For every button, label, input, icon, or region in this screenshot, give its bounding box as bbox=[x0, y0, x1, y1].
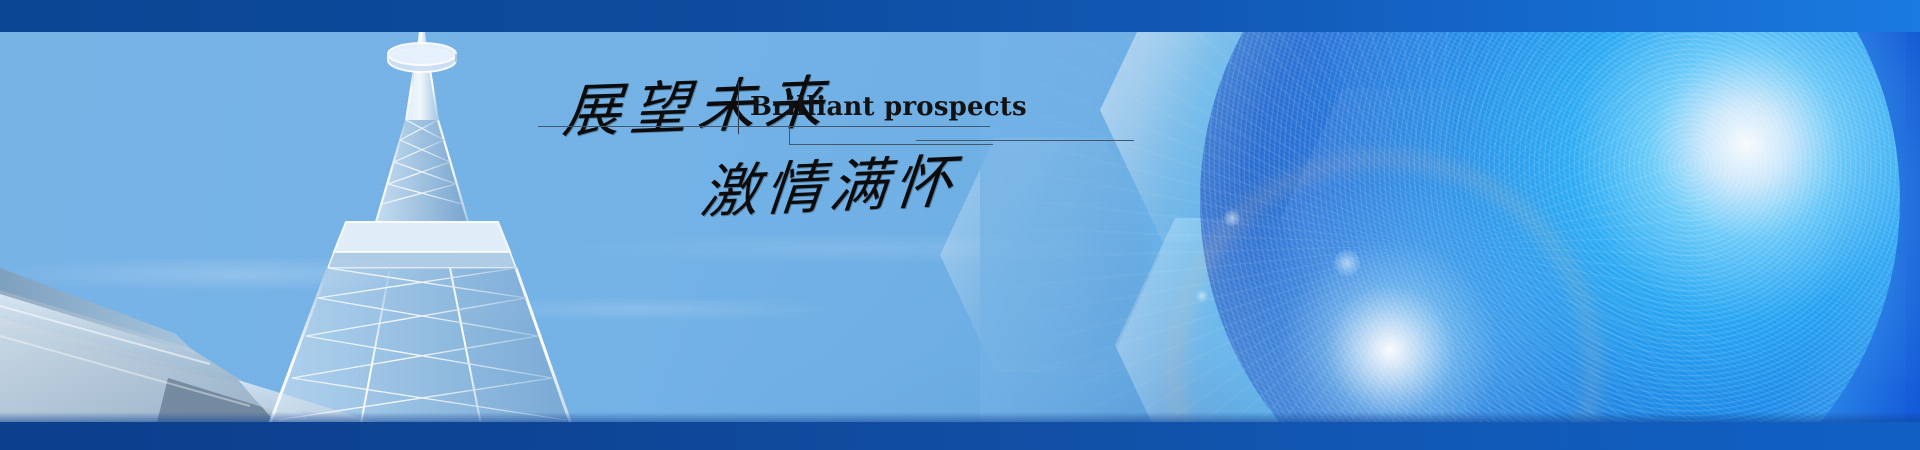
bottom-bar bbox=[0, 422, 1920, 450]
headline-chinese-line2: 激情满怀 bbox=[697, 134, 962, 229]
headline-rule-upper bbox=[538, 126, 990, 127]
lens-dot bbox=[1224, 210, 1240, 226]
lens-dot bbox=[1334, 250, 1360, 276]
promo-banner: 展望未来 Brilliant prospects 激情满怀 bbox=[0, 0, 1920, 450]
headline-block: 展望未来 Brilliant prospects 激情满怀 bbox=[536, 48, 1156, 228]
top-bar bbox=[0, 0, 1920, 32]
headline-english: Brilliant prospects bbox=[750, 92, 1027, 122]
lens-dot bbox=[1196, 290, 1208, 302]
